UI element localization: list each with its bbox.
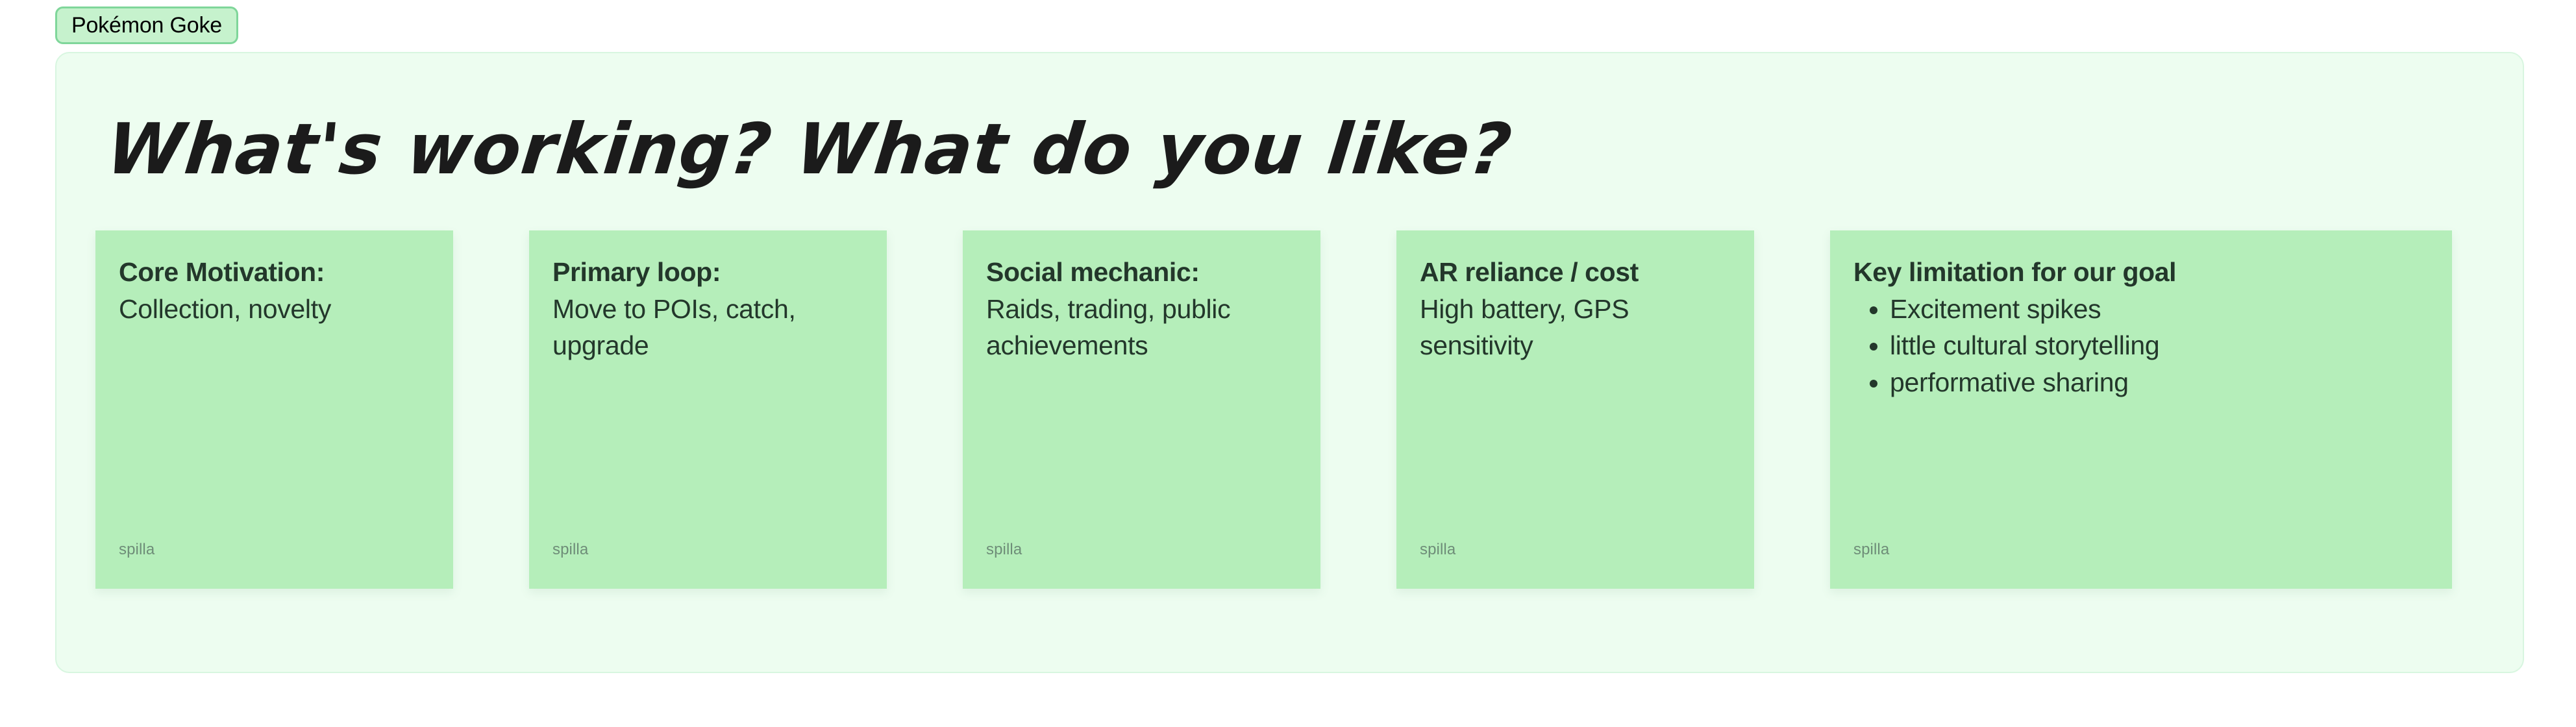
sticky-note-card[interactable]: Core Motivation:Collection, noveltyspill… xyxy=(95,230,453,589)
sticky-note-card[interactable]: Primary loop:Move to POIs, catch, upgrad… xyxy=(529,230,887,589)
sticky-note-title: Key limitation for our goal xyxy=(1853,254,2429,291)
sticky-note-card[interactable]: Key limitation for our goalExcitement sp… xyxy=(1830,230,2452,589)
board-tag-pokemon-goke[interactable]: Pokémon Goke xyxy=(55,6,238,44)
sticky-note-body: Move to POIs, catch, upgrade xyxy=(552,291,863,364)
sticky-note-title: Core Motivation: xyxy=(119,254,430,291)
sticky-note-title: Social mechanic: xyxy=(986,254,1297,291)
sticky-note-card[interactable]: Social mechanic:Raids, trading, public a… xyxy=(963,230,1320,589)
sticky-note-author: spilla xyxy=(552,541,588,559)
sticky-note-author: spilla xyxy=(1420,541,1455,559)
sticky-note-bullet-item: Excitement spikes xyxy=(1890,291,2429,328)
board-tag-label: Pokémon Goke xyxy=(71,13,222,38)
sticky-note-author: spilla xyxy=(119,541,155,559)
sticky-note-body: High battery, GPS sensitivity xyxy=(1420,291,1731,364)
insights-panel: What's working? What do you like? Core M… xyxy=(55,52,2524,673)
sticky-note-body: Raids, trading, public achievements xyxy=(986,291,1297,364)
sticky-note-title: Primary loop: xyxy=(552,254,863,291)
sticky-note-body: Collection, novelty xyxy=(119,291,430,328)
sticky-note-title: AR reliance / cost xyxy=(1420,254,1731,291)
sticky-note-author: spilla xyxy=(1853,541,1889,559)
sticky-note-row: Core Motivation:Collection, noveltyspill… xyxy=(95,230,2486,589)
sticky-note-bullet-item: performative sharing xyxy=(1890,364,2429,401)
sticky-note-bullet-list: Excitement spikeslittle cultural storyte… xyxy=(1853,291,2429,401)
panel-heading: What's working? What do you like? xyxy=(103,115,1515,185)
sticky-note-card[interactable]: AR reliance / costHigh battery, GPS sens… xyxy=(1396,230,1754,589)
screenshot-canvas: Pokémon Goke What's working? What do you… xyxy=(0,0,2576,727)
sticky-note-author: spilla xyxy=(986,541,1022,559)
sticky-note-bullet-item: little cultural storytelling xyxy=(1890,327,2429,364)
